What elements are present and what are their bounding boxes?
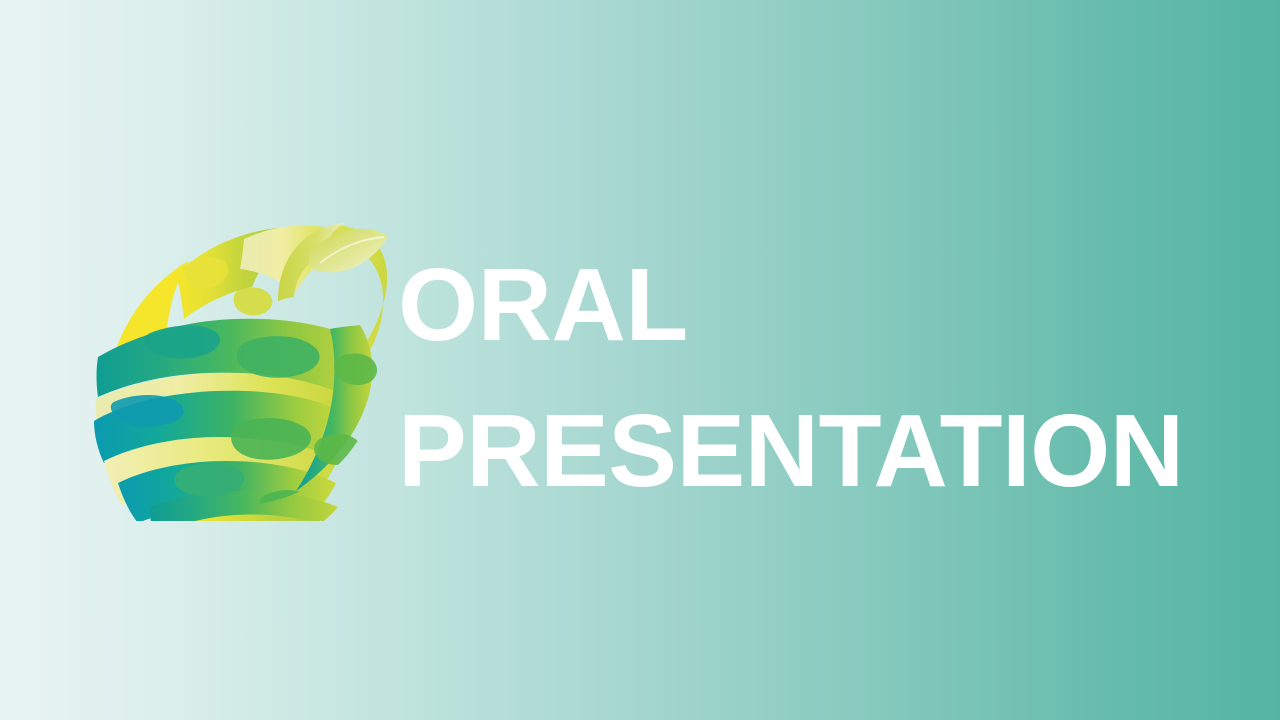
title-line-oral: ORAL — [398, 232, 1198, 378]
globe-ribbons — [94, 223, 388, 521]
title-line-presentation: PRESENTATION — [398, 378, 1198, 524]
presentation-slide: ORAL PRESENTATION — [0, 0, 1280, 720]
slide-title: ORAL PRESENTATION — [398, 232, 1198, 524]
globe-ribbon-leaf-logo — [92, 205, 388, 521]
